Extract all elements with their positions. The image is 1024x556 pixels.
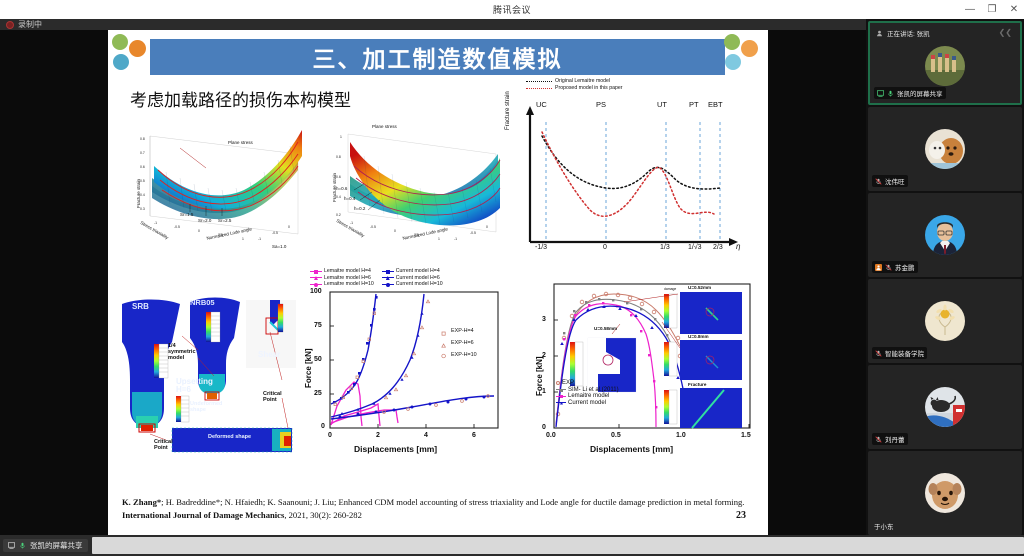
surface-right-annotation-h02: h=0.2: [354, 206, 365, 211]
microphone-muted-icon: [875, 436, 882, 443]
avatar: [925, 473, 965, 513]
signal-icon: ❮❮: [999, 28, 1012, 37]
avatar-image: [925, 215, 965, 255]
record-dot-icon: [6, 21, 14, 29]
fracture-strain-legend: Original Lemaitre model Proposed model i…: [526, 78, 622, 92]
presentation-slide: 三、加工制造数值模拟 考虑加载路径的损伤本构模型: [108, 30, 768, 535]
participant-name: 沈伟旺: [885, 176, 905, 186]
surface-plot-right: 1 0.8 0.6 0.4 0.2 -1 -0.5 0 0.5 1 -1 -0.…: [320, 112, 516, 260]
svg-text:-0.5: -0.5: [470, 231, 476, 235]
avatar-image: [925, 473, 965, 513]
annotation-u-08mm: U=0.8mm: [688, 334, 709, 339]
legend-item-current-h6: Current model H=6: [382, 275, 443, 281]
avatar-image: [925, 301, 965, 341]
force-displacement-xtick-6: 6: [472, 432, 476, 439]
legend-label-current-h6: Current model H=6: [396, 275, 440, 281]
force-displacement-exp-chart: 3 2 1 0 0.0 0.5 1.0 1.5 Force [kN] Displ…: [528, 276, 760, 472]
surface-right-annotation-h04: h=0.4: [344, 196, 355, 201]
surface-right-annotation-plane-stress: Plane stress: [372, 124, 397, 129]
minimize-icon[interactable]: —: [964, 4, 976, 16]
avatar: [925, 46, 965, 86]
participant-tile-liudanlei[interactable]: 刘丹蕾: [868, 365, 1022, 449]
tile-footer: 沈伟旺: [872, 175, 908, 187]
svg-text:0: 0: [198, 229, 200, 233]
svg-text:-0.5: -0.5: [370, 225, 376, 229]
legend-label-original-lemaitre: Original Lemaitre model: [555, 78, 610, 84]
screen-share-icon: [877, 90, 884, 97]
participant-tile-shenweiwang[interactable]: 沈伟旺: [868, 107, 1022, 191]
citation-tail: , 2021, 30(2): 260-282: [284, 510, 362, 520]
force-displacement-ytick-25: 25: [314, 390, 322, 397]
force-displacement-plot-area: [296, 286, 524, 470]
force-exp-xtick-00: 0.0: [546, 432, 556, 439]
svg-text:1: 1: [438, 237, 440, 241]
svg-text:0.6: 0.6: [140, 165, 145, 169]
screen-share-icon: [8, 542, 15, 549]
surface-right-annotation-h06: h=0.6: [336, 186, 347, 191]
svg-text:0.8: 0.8: [140, 137, 145, 141]
tile-footer: 刘丹蕾: [872, 433, 908, 445]
legend-label-exp-h10: EXP-H=10: [451, 352, 477, 358]
fracture-strain-label-uc: UC: [536, 100, 547, 109]
fracture-strain-label-ebt: EBT: [708, 100, 723, 109]
legend-label-sim-li: SIM- Li et al.(2011): [568, 387, 619, 393]
avatar: [925, 129, 965, 169]
svg-text:1: 1: [340, 135, 342, 139]
legend-line-current-h10-icon: [382, 284, 394, 285]
force-displacement-xlabel: Displacements [mm]: [354, 444, 437, 454]
citation-author-bold: K. Zhang*: [122, 497, 161, 507]
force-exp-xtick-05: 0.5: [611, 432, 621, 439]
svg-text:0.7: 0.7: [140, 151, 145, 155]
legend-line-lemaitre-icon: [556, 396, 566, 397]
svg-text:0.2: 0.2: [336, 213, 341, 217]
avatar-image: [925, 129, 965, 169]
host-badge-icon: [875, 264, 882, 271]
fracture-strain-xtick-one-over-sqrt3: 1/√3: [688, 244, 702, 251]
legend-label-exp-h6: EXP-H=6: [451, 340, 474, 346]
fem-label-critical-point-srb: Critical Point: [154, 440, 180, 452]
legend-label-exp: EXP: [562, 380, 574, 386]
force-exp-xtick-10: 1.0: [676, 432, 686, 439]
fem-label-quarter-symmetric-model: 1/4 symmetric model: [168, 344, 196, 361]
legend-line-current-icon: [556, 402, 566, 403]
force-displacement-ytick-75: 75: [314, 322, 322, 329]
bottom-taskbar: 张凯的屏幕共享: [0, 535, 1024, 556]
fem-label-srb: SRB: [132, 302, 149, 311]
fem-label-critical-point-shear: Critical Point: [263, 392, 289, 404]
annotation-damage-label: damage: [664, 287, 676, 291]
legend-item-current-model: Current model: [556, 400, 619, 406]
avatar: [925, 301, 965, 341]
participant-tile-zhinengzhuangbei[interactable]: 智能装备学院: [868, 279, 1022, 363]
legend-label-current-model: Current model: [568, 400, 606, 406]
svg-text:-1: -1: [258, 237, 261, 241]
legend-line-current-h6-icon: [382, 277, 394, 278]
fracture-strain-xlabel: η: [736, 242, 740, 251]
svg-text:0: 0: [288, 225, 290, 229]
participant-name: 于小东: [874, 521, 894, 531]
legend-line-current-h4-icon: [382, 271, 394, 272]
surface-left-annotation-sr20: Sr=2.0: [198, 218, 211, 223]
maximize-icon[interactable]: ❐: [986, 4, 998, 16]
fracture-strain-graphic: [508, 92, 758, 252]
legend-line-sim-icon: [556, 389, 566, 390]
taskbar-share-label: 张凯的屏幕共享: [30, 540, 83, 551]
screen-share-chip[interactable]: 张凯的屏幕共享: [3, 539, 88, 552]
legend-item-lemaitre-h4: Lemaitre model H=4: [310, 268, 374, 274]
legend-marker-exp-icon: [556, 381, 560, 385]
legend-line-lemaitre-h6-icon: [310, 277, 322, 278]
svg-text:0: 0: [394, 229, 396, 233]
force-displacement-xtick-0: 0: [328, 432, 332, 439]
tile-footer: 智能装备学院: [872, 347, 927, 359]
svg-text:1: 1: [242, 237, 244, 241]
taskbar-tray: [92, 537, 1024, 554]
force-exp-legend: EXP SIM- Li et al.(2011) Lemaitre model …: [556, 380, 619, 406]
participant-name: 苏金鹏: [895, 262, 915, 272]
legend-label-proposed-model: Proposed model in this paper: [555, 85, 622, 91]
speaking-banner: 正在讲话: 张凯: [876, 27, 1014, 39]
fem-label-nrb05: NRB05: [190, 298, 215, 307]
fracture-strain-xtick-two-thirds: 2/3: [713, 244, 723, 251]
force-displacement-exp-plot-area: [528, 276, 760, 472]
surface-left-annotation-sa10: Sa=1.0: [272, 244, 286, 249]
legend-line-lemaitre-h10-icon: [310, 284, 322, 285]
fracture-strain-xtick-zero: 0: [603, 244, 607, 251]
svg-text:-1: -1: [154, 221, 157, 225]
fracture-strain-xtick-third: 1/3: [660, 244, 670, 251]
microphone-muted-icon: [875, 178, 882, 185]
surface-plot-left: 0.8 0.7 0.6 0.5 0.4 0.3 -1 -0.5 0 0.5 1 …: [122, 112, 318, 260]
surface-left-annotation-sr15: Sr=1.5: [180, 212, 193, 217]
decor-circles-right-icon: [722, 34, 766, 78]
legend-column-current: Current model H=4 Current model H=6 Curr…: [382, 268, 443, 288]
microphone-icon: [19, 542, 26, 549]
participant-tile-zhangkai[interactable]: 正在讲话: 张凯 ❮❮: [868, 21, 1022, 105]
surface-right-zlabel: Fracture strain: [332, 173, 337, 202]
microphone-muted-icon: [875, 350, 882, 357]
slide-subtitle: 考虑加载路径的损伤本构模型: [130, 86, 351, 111]
legend-label-lemaitre-h4: Lemaitre model H=4: [324, 268, 371, 274]
fem-model-montage: SRB NRB05 1/4 symmetric model Upsetting …: [110, 288, 298, 466]
legend-item-proposed-model: Proposed model in this paper: [526, 85, 622, 91]
participant-tile-yuxiaodong[interactable]: 于小东: [868, 451, 1022, 535]
force-displacement-xtick-4: 4: [424, 432, 428, 439]
force-displacement-ytick-0: 0: [321, 423, 325, 430]
legend-line-red-icon: [526, 88, 552, 89]
person-icon: [876, 30, 883, 37]
avatar-image: [925, 46, 965, 86]
force-exp-ytick-3: 3: [542, 316, 546, 323]
svg-text:-0.5: -0.5: [272, 231, 278, 235]
legend-item-current-h4: Current model H=4: [382, 268, 443, 274]
fem-label-upsetting: Upsetting H=6: [176, 378, 220, 395]
force-displacement-ytick-50: 50: [314, 356, 322, 363]
avatar: [925, 387, 965, 427]
participant-rail: 正在讲话: 张凯 ❮❮: [866, 19, 1024, 535]
annotation-u-058mm: U=0.58mm: [594, 326, 617, 331]
avatar-image: [925, 387, 965, 427]
window-title: 腾讯会议: [493, 3, 531, 16]
force-exp-ylabel: Force [kN]: [535, 356, 544, 396]
annotation-u-052mm: U=0.52mm: [688, 285, 711, 290]
fem-label-shear: Shear: [258, 350, 280, 359]
legend-line-black-icon: [526, 81, 552, 82]
close-icon[interactable]: ✕: [1008, 4, 1020, 16]
force-displacement-chart: Lemaitre model H=4 Lemaitre model H=6 Le…: [296, 268, 524, 470]
tile-footer: 张凯的屏幕共享: [874, 87, 946, 99]
window-controls: — ❐ ✕: [964, 0, 1020, 19]
svg-text:0: 0: [486, 225, 488, 229]
surface-plot-right-graphic: 1 0.8 0.6 0.4 0.2 -1 -0.5 0 0.5 1 -1 -0.…: [320, 112, 516, 260]
participant-tile-sujinpeng[interactable]: 苏金鹏: [868, 193, 1022, 277]
legend-item-sim-li: SIM- Li et al.(2011): [556, 387, 619, 393]
legend-column-lemaitre: Lemaitre model H=4 Lemaitre model H=6 Le…: [310, 268, 374, 288]
fracture-strain-xtick-neg-third: -1/3: [535, 244, 547, 251]
legend-label-lemaitre-model: Lemaitre model: [568, 393, 609, 399]
tile-footer: 苏金鹏: [872, 261, 918, 273]
tencent-meeting-window: 腾讯会议 — ❐ ✕ 录制中 三、加工制造数值模拟 考虑加载路径的损伤本构模型: [0, 0, 1024, 556]
slide-title: 三、加工制造数值模拟: [150, 39, 725, 75]
fem-label-deformed-shape: Deformed shape: [208, 434, 251, 440]
force-exp-ytick-0: 0: [542, 424, 546, 431]
surface-left-annotation-plane-stress: Plane stress: [228, 140, 253, 145]
microphone-muted-icon: [885, 264, 892, 271]
fracture-strain-label-ps: PS: [596, 100, 606, 109]
svg-text:-1: -1: [454, 237, 457, 241]
svg-text:-0.5: -0.5: [174, 225, 180, 229]
fracture-strain-label-pt: PT: [689, 100, 699, 109]
window-titlebar: 腾讯会议 — ❐ ✕: [0, 0, 1024, 19]
legend-label-lemaitre-h6: Lemaitre model H=6: [324, 275, 371, 281]
surface-left-zlabel: Fracture strain: [136, 179, 141, 208]
participant-name: 张凯的屏幕共享: [897, 88, 943, 98]
force-exp-xlabel: Displacements [mm]: [590, 444, 673, 454]
legend-item-lemaitre-h6: Lemaitre model H=6: [310, 275, 374, 281]
microphone-icon: [887, 90, 894, 97]
citation-text: K. Zhang*; H. Badreddine*; N. Hfaiedh; K…: [122, 496, 758, 521]
force-displacement-xtick-2: 2: [376, 432, 380, 439]
svg-text:0.8: 0.8: [336, 155, 341, 159]
decor-circles-left-icon: [110, 34, 154, 78]
avatar: [925, 215, 965, 255]
force-exp-xtick-15: 1.5: [741, 432, 751, 439]
legend-line-lemaitre-h4-icon: [310, 271, 322, 272]
legend-label-current-h4: Current model H=4: [396, 268, 440, 274]
legend-label-exp-h4: EXP-H=4: [451, 328, 474, 334]
recording-label: 录制中: [18, 19, 42, 30]
legend-item-exp: EXP: [556, 380, 619, 386]
speaking-label: 正在讲话: 张凯: [887, 28, 930, 38]
participant-name: 刘丹蕾: [885, 434, 905, 444]
recording-indicator: 录制中: [6, 19, 42, 30]
participant-name: 智能装备学院: [885, 348, 924, 358]
slide-header: 三、加工制造数值模拟: [108, 30, 768, 85]
fem-label-undeformed-shape: Undeformed shape: [190, 402, 224, 414]
force-displacement-ytick-100: 100: [310, 288, 322, 295]
force-displacement-ylabel: Force [kN]: [304, 348, 313, 388]
tile-footer: 于小东: [872, 521, 896, 531]
fracture-strain-schematic: Original Lemaitre model Proposed model i…: [508, 78, 758, 253]
legend-item-original-lemaitre: Original Lemaitre model: [526, 78, 622, 84]
legend-item-lemaitre-model: Lemaitre model: [556, 393, 619, 399]
annotation-fracture: Fracture: [688, 382, 706, 387]
slide-page-number: 23: [736, 510, 746, 521]
surface-left-annotation-sr25: Sr=2.5: [218, 218, 231, 223]
citation-body: ; H. Badreddine*; N. Hfaiedh; K. Saanoun…: [161, 497, 744, 507]
citation-journal: International Journal of Damage Mechanic…: [122, 510, 284, 520]
force-displacement-legend: Lemaitre model H=4 Lemaitre model H=6 Le…: [310, 268, 443, 288]
fracture-strain-label-ut: UT: [657, 100, 667, 109]
